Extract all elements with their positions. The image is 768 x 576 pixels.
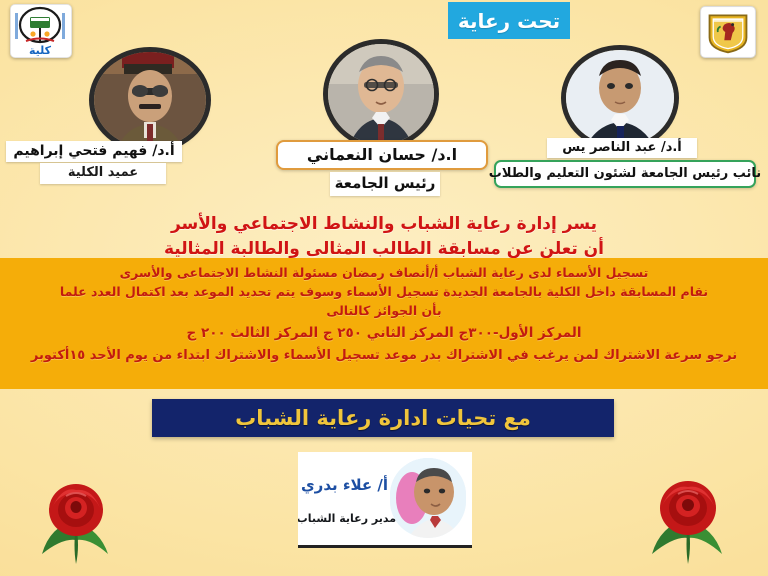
official-role-right: نائب رئيس الجامعة لشئون التعليم والطلاب <box>494 160 756 188</box>
official-name-left: أ.د/ فهيم فتحي إبراهيم <box>6 141 182 162</box>
official-role-center: رئيس الجامعة <box>330 172 440 196</box>
official-name-right: أ.د/ عبد الناصر يس <box>547 138 697 158</box>
director-role: مدير رعاية الشباب <box>302 512 396 525</box>
red-rose-icon-left <box>30 480 122 566</box>
director-photo <box>390 458 466 538</box>
university-crest <box>700 6 756 58</box>
patronage-label: تحت رعاية <box>458 9 560 33</box>
red-rose-icon-right <box>640 478 736 566</box>
prize-list: المركز الأول-٣٠٠ج المركز الثاني ٢٥٠ ج ال… <box>0 320 768 344</box>
announcement-poster: كلية تحت رعاية <box>0 0 768 576</box>
official-name-center: ا.د/ حسان النعماني <box>276 140 488 170</box>
detail-registration: تسجيل الأسماء لدى رعاية الشباب أ/أنصاف ر… <box>0 263 768 282</box>
closing-banner: مع تحيات ادارة رعاية الشباب <box>152 399 614 437</box>
signature-card: أ/ علاء بدري مدير رعاية الشباب <box>298 452 472 548</box>
headline-line-1: يسر إدارة رعاية الشباب والنشاط الاجتماعي… <box>0 212 768 237</box>
detail-venue: نقام المسابقة داخل الكلية بالجامعة الجدي… <box>0 282 768 301</box>
details-block: تسجيل الأسماء لدى رعاية الشباب أ/أنصاف ر… <box>0 258 768 389</box>
patronage-banner: تحت رعاية <box>448 2 570 39</box>
headline: يسر إدارة رعاية الشباب والنشاط الاجتماعي… <box>0 212 768 261</box>
director-name: أ/ علاء بدري <box>304 476 388 494</box>
svg-text:كلية: كلية <box>29 44 52 57</box>
detail-deadline: نرجو سرعة الاشتراك لمن يرغب في الاشتراك … <box>0 344 768 366</box>
detail-prizes-intro: بأن الجوائز كالتالى <box>0 301 768 320</box>
official-photo-right <box>566 50 674 146</box>
official-role-left: عميد الكلية <box>40 163 166 184</box>
faculty-logo: كلية <box>10 4 72 58</box>
official-photo-left <box>94 52 206 148</box>
official-photo-center <box>328 44 434 144</box>
closing-text: مع تحيات ادارة رعاية الشباب <box>235 406 531 430</box>
